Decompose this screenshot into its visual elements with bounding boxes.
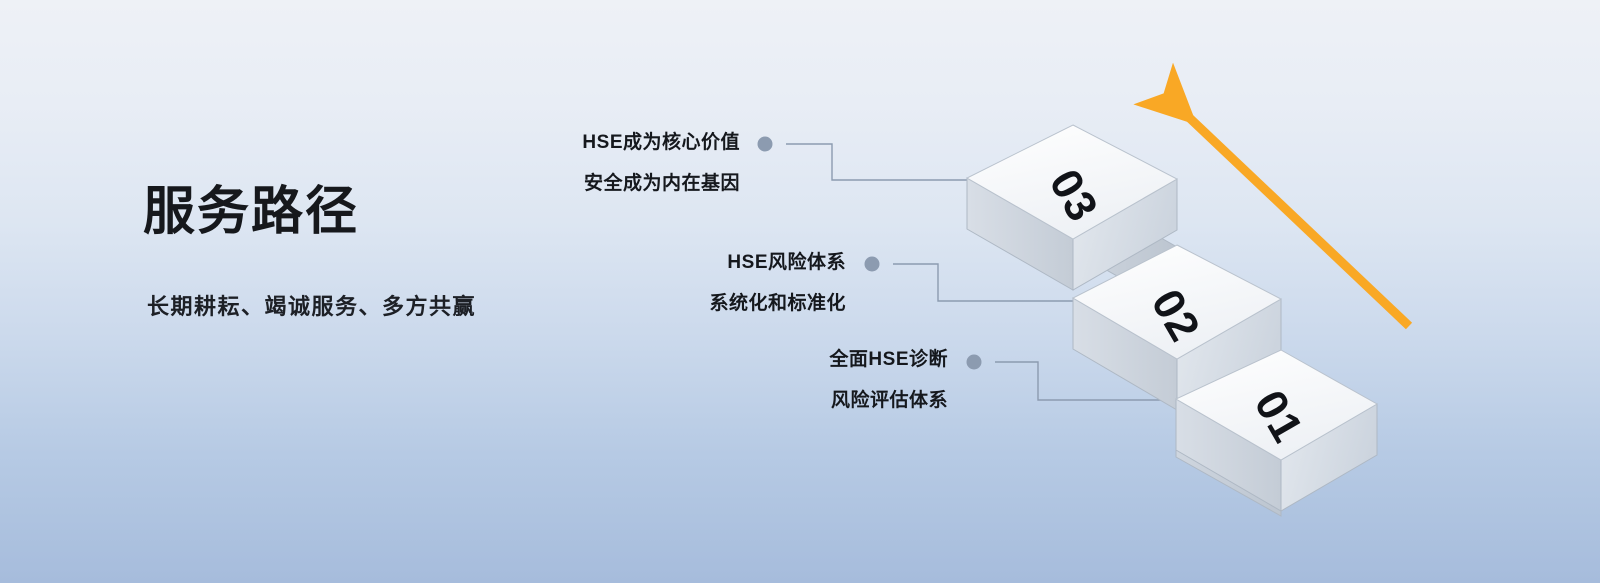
callout-step-02-line2: 系统化和标准化 [470, 294, 846, 313]
connector-dot-step-03 [758, 137, 773, 152]
connector-step-03 [786, 144, 986, 180]
callout-step-03: HSE成为核心价值 安全成为内在基因 [360, 133, 740, 193]
callout-step-03-line2: 安全成为内在基因 [360, 174, 740, 193]
callout-step-02-line1: HSE风险体系 [727, 252, 846, 273]
callout-step-01: 全面HSE诊断 风险评估体系 [570, 350, 948, 410]
callout-step-01-line1: 全面HSE诊断 [829, 349, 948, 370]
connector-dot-step-02 [865, 257, 880, 272]
callout-step-02: HSE风险体系 系统化和标准化 [470, 253, 846, 313]
slide-canvas: 03 02 01 服务路径 长期耕耘、竭诚服务、多方共赢 HSE成为核心价值 安… [0, 0, 1600, 583]
connector-dot-step-01 [967, 355, 982, 370]
callout-step-01-line2: 风险评估体系 [570, 391, 948, 410]
callout-step-03-line1: HSE成为核心价值 [582, 132, 740, 153]
